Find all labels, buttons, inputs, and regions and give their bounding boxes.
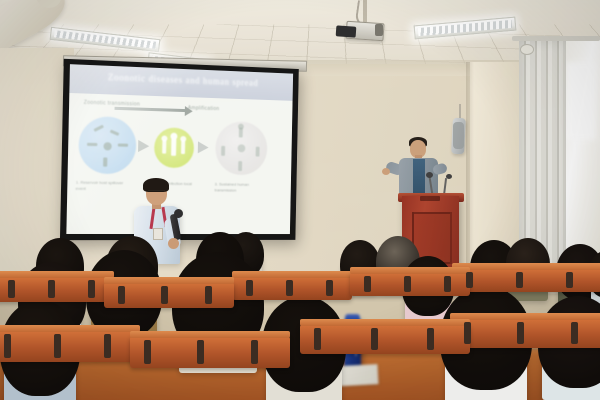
bench-seat[interactable] xyxy=(0,276,114,302)
lecture-hall-photo: Zoonotic diseases and human spread Zoono… xyxy=(0,0,600,400)
bench-bracket xyxy=(246,280,253,296)
bench-bracket xyxy=(54,334,61,358)
bench-backrest xyxy=(0,271,114,278)
bench-bracket xyxy=(404,276,411,292)
bench-bracket xyxy=(161,286,168,304)
bench-bracket xyxy=(144,340,151,364)
bench-backrest xyxy=(452,263,600,270)
bench-bracket xyxy=(371,328,378,350)
bench-bracket xyxy=(427,328,434,350)
bench-bracket xyxy=(517,322,524,344)
bench-bracket xyxy=(566,272,573,288)
bench-bracket xyxy=(466,272,473,288)
bench-seat[interactable] xyxy=(452,268,600,292)
bench-bracket xyxy=(88,280,95,298)
bench-bracket xyxy=(516,272,523,288)
bench-bracket xyxy=(571,322,578,344)
bench-bracket xyxy=(444,276,451,292)
bench-bracket xyxy=(251,340,258,364)
bench-bracket xyxy=(104,334,111,358)
bench-seat[interactable] xyxy=(0,330,140,362)
bench-bracket xyxy=(364,276,371,292)
bench-backrest xyxy=(104,277,234,284)
bench-bracket xyxy=(464,322,471,344)
bench-bracket xyxy=(8,280,15,298)
bench-seat[interactable] xyxy=(130,336,290,368)
bench-bracket xyxy=(326,280,333,296)
audience-seating-area xyxy=(0,0,600,400)
bench-seat[interactable] xyxy=(300,324,470,354)
bench-backrest xyxy=(232,271,352,278)
bench-backrest xyxy=(350,267,470,274)
bench-backrest xyxy=(0,325,140,332)
bench-backrest xyxy=(450,313,600,320)
bench-bracket xyxy=(314,328,321,350)
bench-bracket xyxy=(197,340,204,364)
bench-bracket xyxy=(118,286,125,304)
bench-bracket xyxy=(4,334,11,358)
bench-backrest xyxy=(300,319,470,326)
bench-backrest xyxy=(130,331,290,338)
bench-bracket xyxy=(205,286,212,304)
bench-bracket xyxy=(286,280,293,296)
bench-bracket xyxy=(48,280,55,298)
